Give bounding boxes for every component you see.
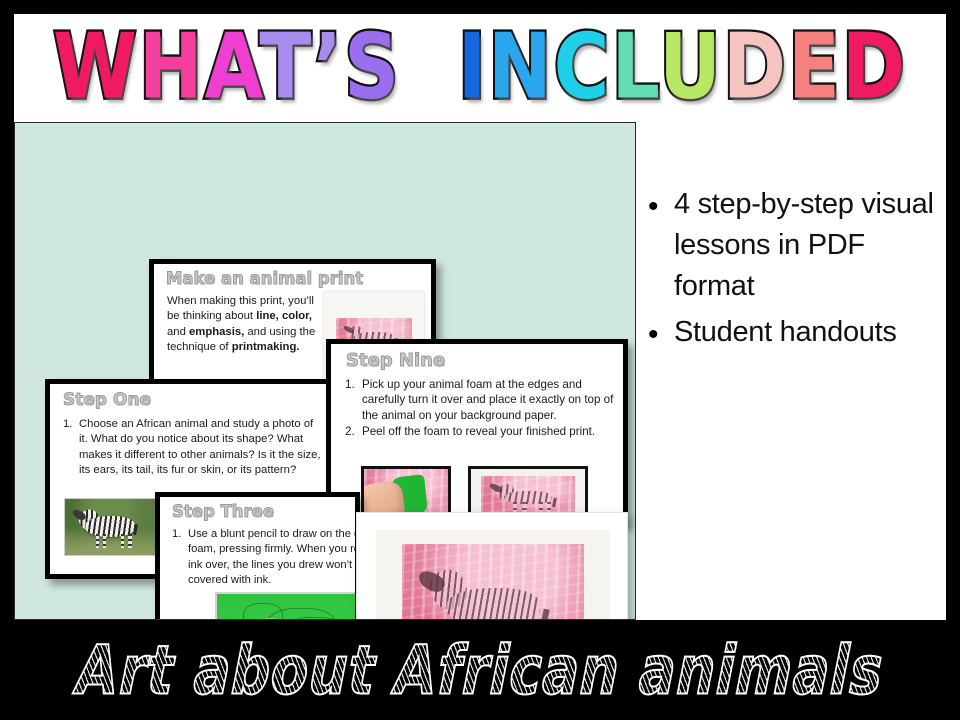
title-letter: S: [344, 14, 401, 119]
inner-white-frame: WHAT’S INCLUDED Make an animal print Whe…: [14, 14, 946, 620]
list-text: Use a blunt pencil to draw on the craft …: [188, 527, 360, 589]
large-finished-pink-zebra-print-image: [402, 544, 584, 620]
numbered-list-item: 1.Pick up your animal foam at the edges …: [345, 377, 617, 423]
title-letter: C: [554, 14, 612, 119]
list-number: 1.: [345, 377, 362, 423]
bottom-banner: Art about African animals: [0, 620, 960, 720]
hand-drawing-on-green-foam-image: [215, 592, 360, 620]
slide-canvas: WHAT’S INCLUDED Make an animal print Whe…: [0, 0, 960, 720]
page-title: WHAT’S INCLUDED: [14, 14, 946, 120]
numbered-list-item: 2.Peel off the foam to reveal your finis…: [345, 424, 617, 439]
included-bullet-list: • 4 step-by-step visual lessons in PDF f…: [648, 184, 948, 357]
slide-card-step-nine[interactable]: Step Nine 1.Pick up your animal foam at …: [326, 339, 628, 524]
title-letter: I: [458, 14, 488, 119]
title-letter: D: [842, 14, 907, 119]
title-letter: D: [723, 14, 788, 119]
banner-title: Art about African animals: [75, 631, 884, 710]
slide-body-text: 1.Choose an African animal and study a p…: [63, 417, 325, 478]
title-letter: A: [204, 14, 259, 119]
title-letter: T: [259, 14, 313, 119]
title-letter: ’: [313, 14, 344, 119]
slide-body-text: 1.Pick up your animal foam at the edges …: [345, 377, 617, 441]
list-item: • 4 step-by-step visual lessons in PDF f…: [648, 184, 948, 308]
body-text-run: and: [167, 326, 189, 338]
list-number: 1.: [63, 417, 79, 478]
slide-body-text: 1.Use a blunt pencil to draw on the craf…: [172, 527, 360, 589]
page-title-text: WHAT’S INCLUDED: [53, 22, 907, 112]
slide-heading: Step Three: [172, 502, 274, 521]
emphasised-term: printmaking.: [232, 341, 300, 353]
slide-heading: Step One: [63, 390, 151, 410]
title-letter: L: [611, 14, 659, 119]
title-letter: W: [53, 14, 139, 119]
slide-preview-panel: Make an animal print When making this pr…: [14, 122, 636, 620]
numbered-list-item: 1.Choose an African animal and study a p…: [63, 417, 325, 478]
slide-card-step-three[interactable]: Step Three 1.Use a blunt pencil to draw …: [155, 492, 360, 620]
numbered-list-item: 1.Use a blunt pencil to draw on the craf…: [172, 527, 360, 589]
print-mat: [376, 530, 610, 620]
title-letter: E: [788, 14, 842, 119]
slide-heading: Step Nine: [346, 350, 445, 371]
bullet-point-icon: •: [648, 320, 674, 350]
title-letter: U: [659, 14, 723, 119]
emphasised-term: line, color,: [256, 310, 312, 322]
zebra-photograph-image: [64, 498, 156, 556]
title-letter: N: [488, 14, 554, 119]
slide-heading: Make an animal print: [166, 269, 363, 288]
list-number: 1.: [172, 527, 188, 589]
slide-body-text: When making this print, you’ll be thinki…: [167, 294, 319, 356]
list-number: 2.: [345, 424, 362, 439]
list-text: Pick up your animal foam at the edges an…: [362, 377, 617, 423]
emphasised-term: emphasis,: [189, 326, 244, 338]
bullet-point-icon: •: [648, 192, 674, 222]
list-text: Choose an African animal and study a pho…: [79, 417, 325, 478]
list-text: Peel off the foam to reveal your finishe…: [362, 424, 617, 439]
slide-card-final-print[interactable]: [356, 512, 628, 620]
list-item: • Student handouts: [648, 312, 948, 353]
bullet-text: 4 step-by-step visual lessons in PDF for…: [674, 184, 948, 308]
title-letter: [401, 14, 458, 119]
title-letter: H: [139, 14, 205, 119]
bullet-text: Student handouts: [674, 312, 897, 353]
